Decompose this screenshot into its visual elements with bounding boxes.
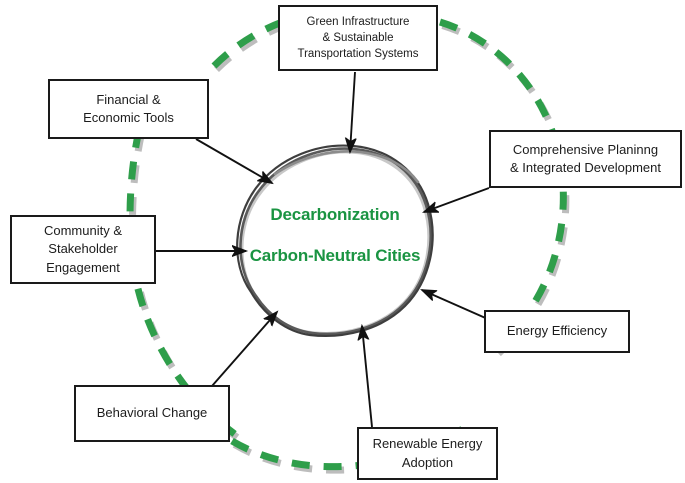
node-financial-economic-tools[interactable]: Financial & Economic Tools [48, 79, 209, 139]
node-label-line: Stakeholder [48, 240, 117, 258]
node-label-line: Adoption [402, 454, 453, 472]
node-label-line: Community & [44, 222, 122, 240]
node-label-line: Engagement [46, 259, 120, 277]
arrow-comprehensive-planning [424, 188, 489, 212]
node-label-line: Renewable Energy [373, 435, 483, 453]
center-circle [237, 146, 432, 336]
arrow-renewable-energy [362, 326, 372, 427]
arrow-behavioral-change [212, 312, 277, 386]
node-energy-efficiency[interactable]: Energy Efficiency [484, 310, 630, 353]
node-label-line: Economic Tools [83, 109, 174, 127]
node-label-line: Comprehensive Planinng [513, 141, 658, 159]
node-label-line: & Integrated Development [510, 159, 661, 177]
node-label-line: Behavioral Change [97, 404, 208, 422]
node-green-infrastructure[interactable]: Green Infrastructure & Sustainable Trans… [278, 5, 438, 71]
node-renewable-energy-adoption[interactable]: Renewable Energy Adoption [357, 427, 498, 480]
node-label-line: & Sustainable [323, 30, 394, 46]
arrow-energy-efficiency [422, 290, 490, 320]
arrow-financial-economic-tools [196, 139, 272, 183]
node-comprehensive-planning[interactable]: Comprehensive Planinng & Integrated Deve… [489, 130, 682, 188]
node-label-line: Transportation Systems [297, 46, 418, 62]
node-community-stakeholder-engagement[interactable]: Community & Stakeholder Engagement [10, 215, 156, 284]
node-label-line: Green Infrastructure [307, 14, 410, 30]
diagram-canvas: Decarbonization Carbon-Neutral Cities Gr… [0, 0, 685, 483]
node-behavioral-change[interactable]: Behavioral Change [74, 385, 230, 442]
arrow-green-infrastructure [350, 72, 355, 152]
node-label-line: Financial & [96, 91, 160, 109]
node-label-line: Energy Efficiency [507, 322, 607, 340]
